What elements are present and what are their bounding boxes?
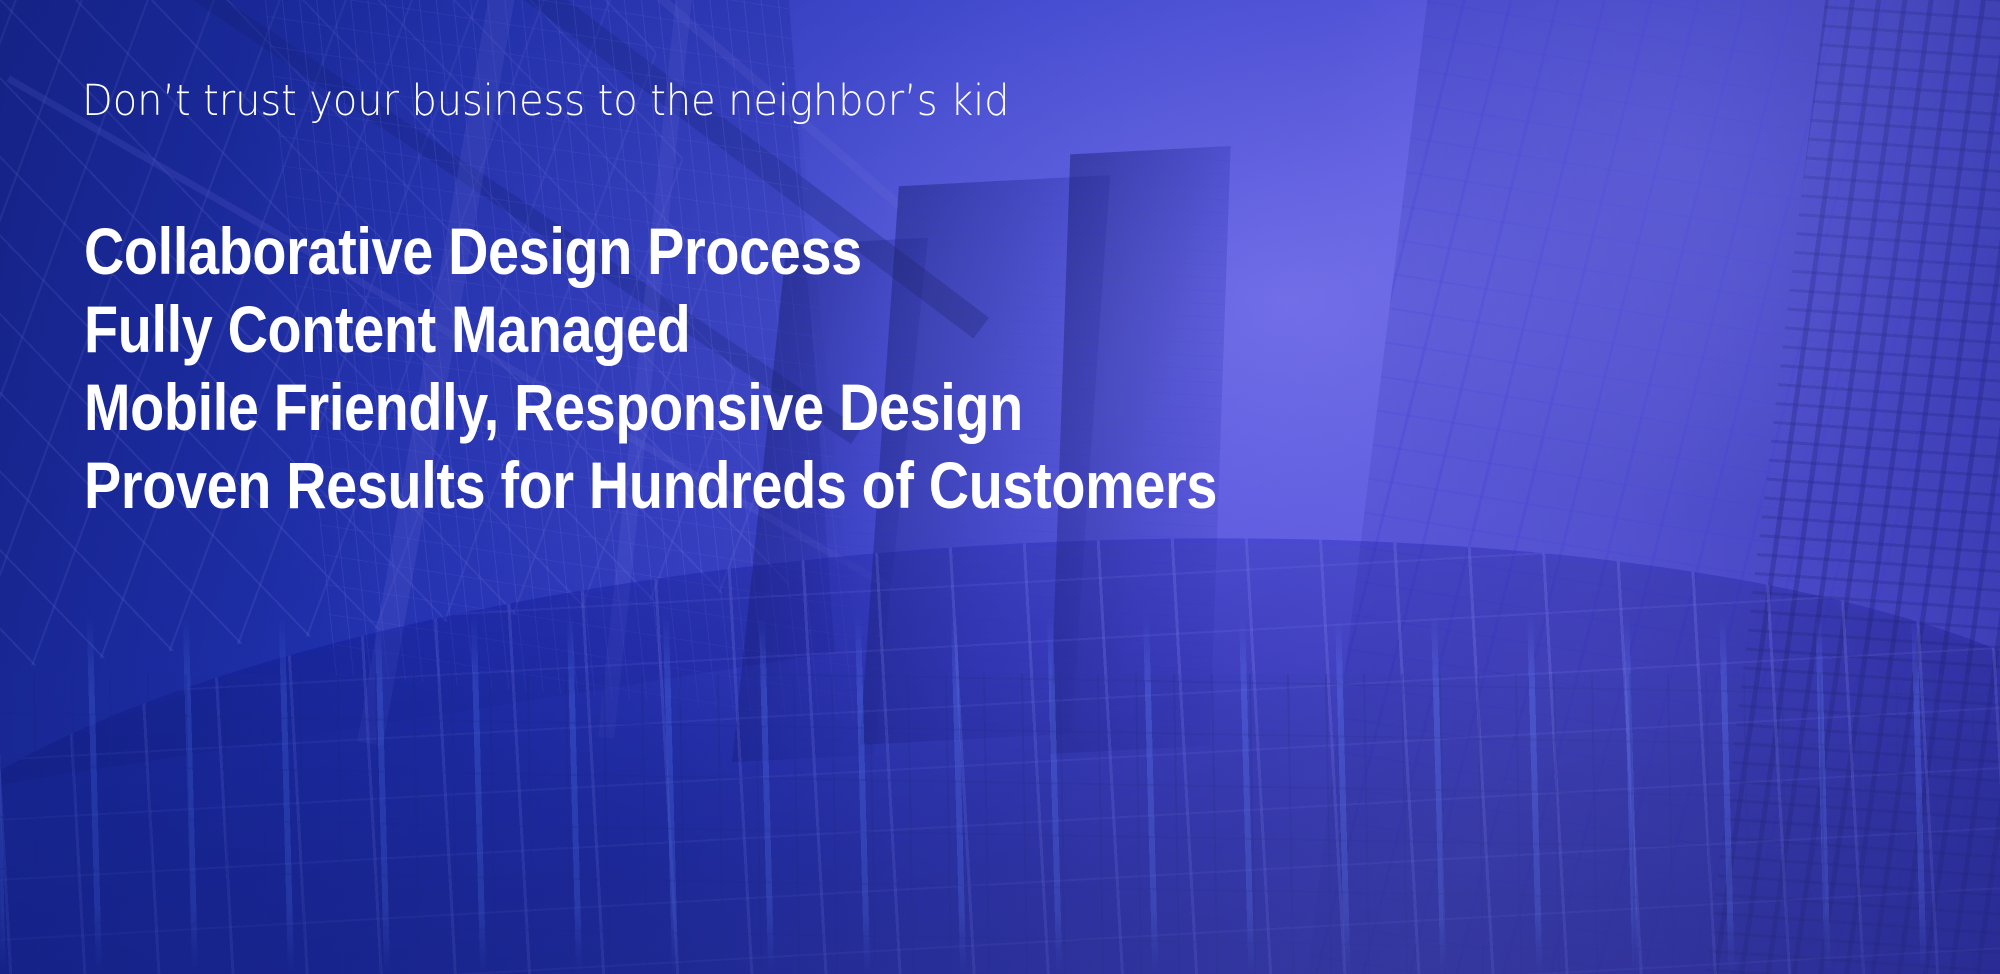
hero-headline-list: Collaborative Design Process Fully Conte…: [84, 212, 1425, 524]
hero-headline-line-2: Fully Content Managed: [84, 290, 1217, 368]
hero-content: Don’t trust your business to the neighbo…: [82, 0, 1902, 974]
hero-headline-line-3: Mobile Friendly, Responsive Design: [84, 368, 1217, 446]
hero-headline-line-4: Proven Results for Hundreds of Customers: [84, 446, 1217, 524]
hero-tagline: Don’t trust your business to the neighbo…: [82, 80, 1009, 123]
hero-banner: Don’t trust your business to the neighbo…: [0, 0, 2000, 974]
hero-headline-line-1: Collaborative Design Process: [84, 212, 1217, 290]
